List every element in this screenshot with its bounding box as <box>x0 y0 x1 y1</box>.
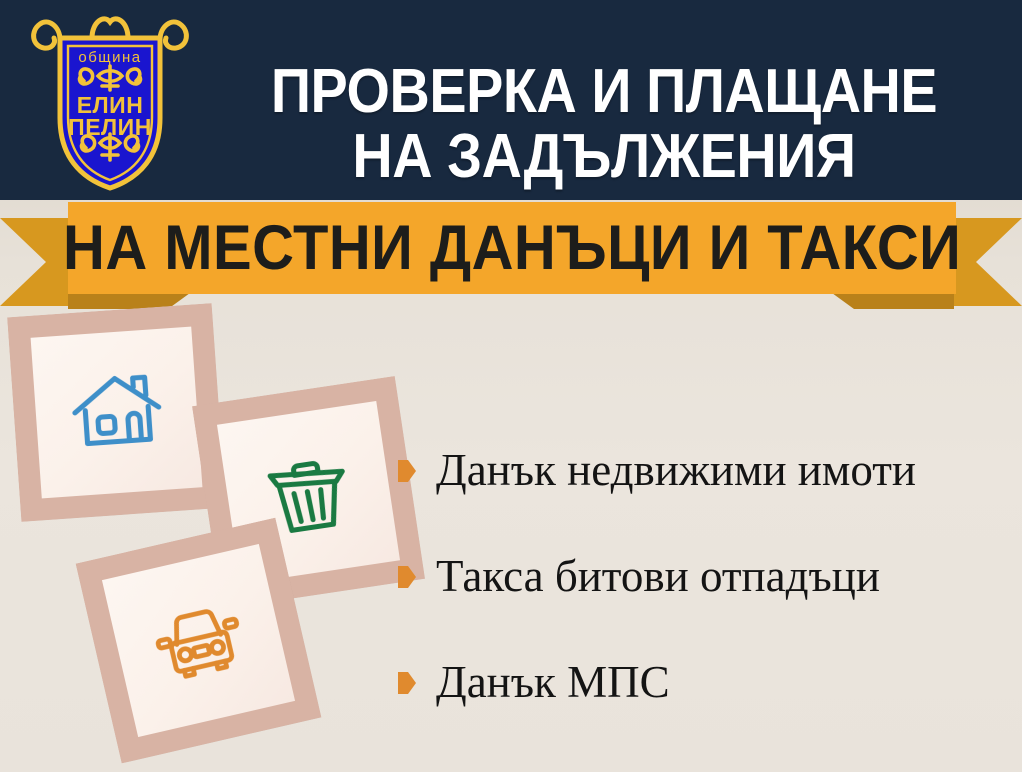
arrow-bullet-icon <box>398 672 416 694</box>
ribbon-label: НА МЕСТНИ ДАНЪЦИ И ТАКСИ <box>63 217 961 280</box>
page-title: ПРОВЕРКА И ПЛАЩАНЕ НА ЗАДЪЛЖЕНИЯ <box>237 60 971 188</box>
list-item[interactable]: Такса битови отпадъци <box>398 524 1008 630</box>
poster-canvas: община ЕЛИН ПЕЛИН ПРОВЕРКА И ПЛАЩАНЕ НА … <box>0 0 1022 772</box>
list-item[interactable]: Данък недвижими имоти <box>398 418 1008 524</box>
stamp-collage <box>0 300 420 770</box>
page-title-line-2: НА ЗАДЪЛЖЕНИЯ <box>237 125 971 188</box>
ribbon-fold-right <box>832 293 954 309</box>
house-icon <box>65 361 167 463</box>
page-title-line-1: ПРОВЕРКА И ПЛАЩАНЕ <box>237 60 971 123</box>
arrow-bullet-icon <box>398 566 416 588</box>
svg-text:община: община <box>78 49 141 66</box>
subtitle-ribbon: НА МЕСТНИ ДАНЪЦИ И ТАКСИ <box>0 200 1022 312</box>
header-content: община ЕЛИН ПЕЛИН ПРОВЕРКА И ПЛАЩАНЕ НА … <box>0 0 1022 200</box>
stamp-face <box>31 327 203 499</box>
svg-text:ПЕЛИН: ПЕЛИН <box>68 114 152 140</box>
list-item-label: Такса битови отпадъци <box>436 553 880 600</box>
list-item-label: Данък МПС <box>436 659 670 706</box>
ribbon-plate: НА МЕСТНИ ДАНЪЦИ И ТАКСИ <box>68 202 956 294</box>
arrow-bullet-icon <box>398 460 416 482</box>
list-item[interactable]: Данък МПС <box>398 630 1008 736</box>
car-icon <box>141 583 256 698</box>
list-item-label: Данък недвижими имоти <box>436 447 916 494</box>
services-list: Данък недвижими имоти Такса битови отпад… <box>398 418 1008 736</box>
stamp-face <box>102 544 295 737</box>
municipality-crest: община ЕЛИН ПЕЛИН <box>22 8 198 194</box>
